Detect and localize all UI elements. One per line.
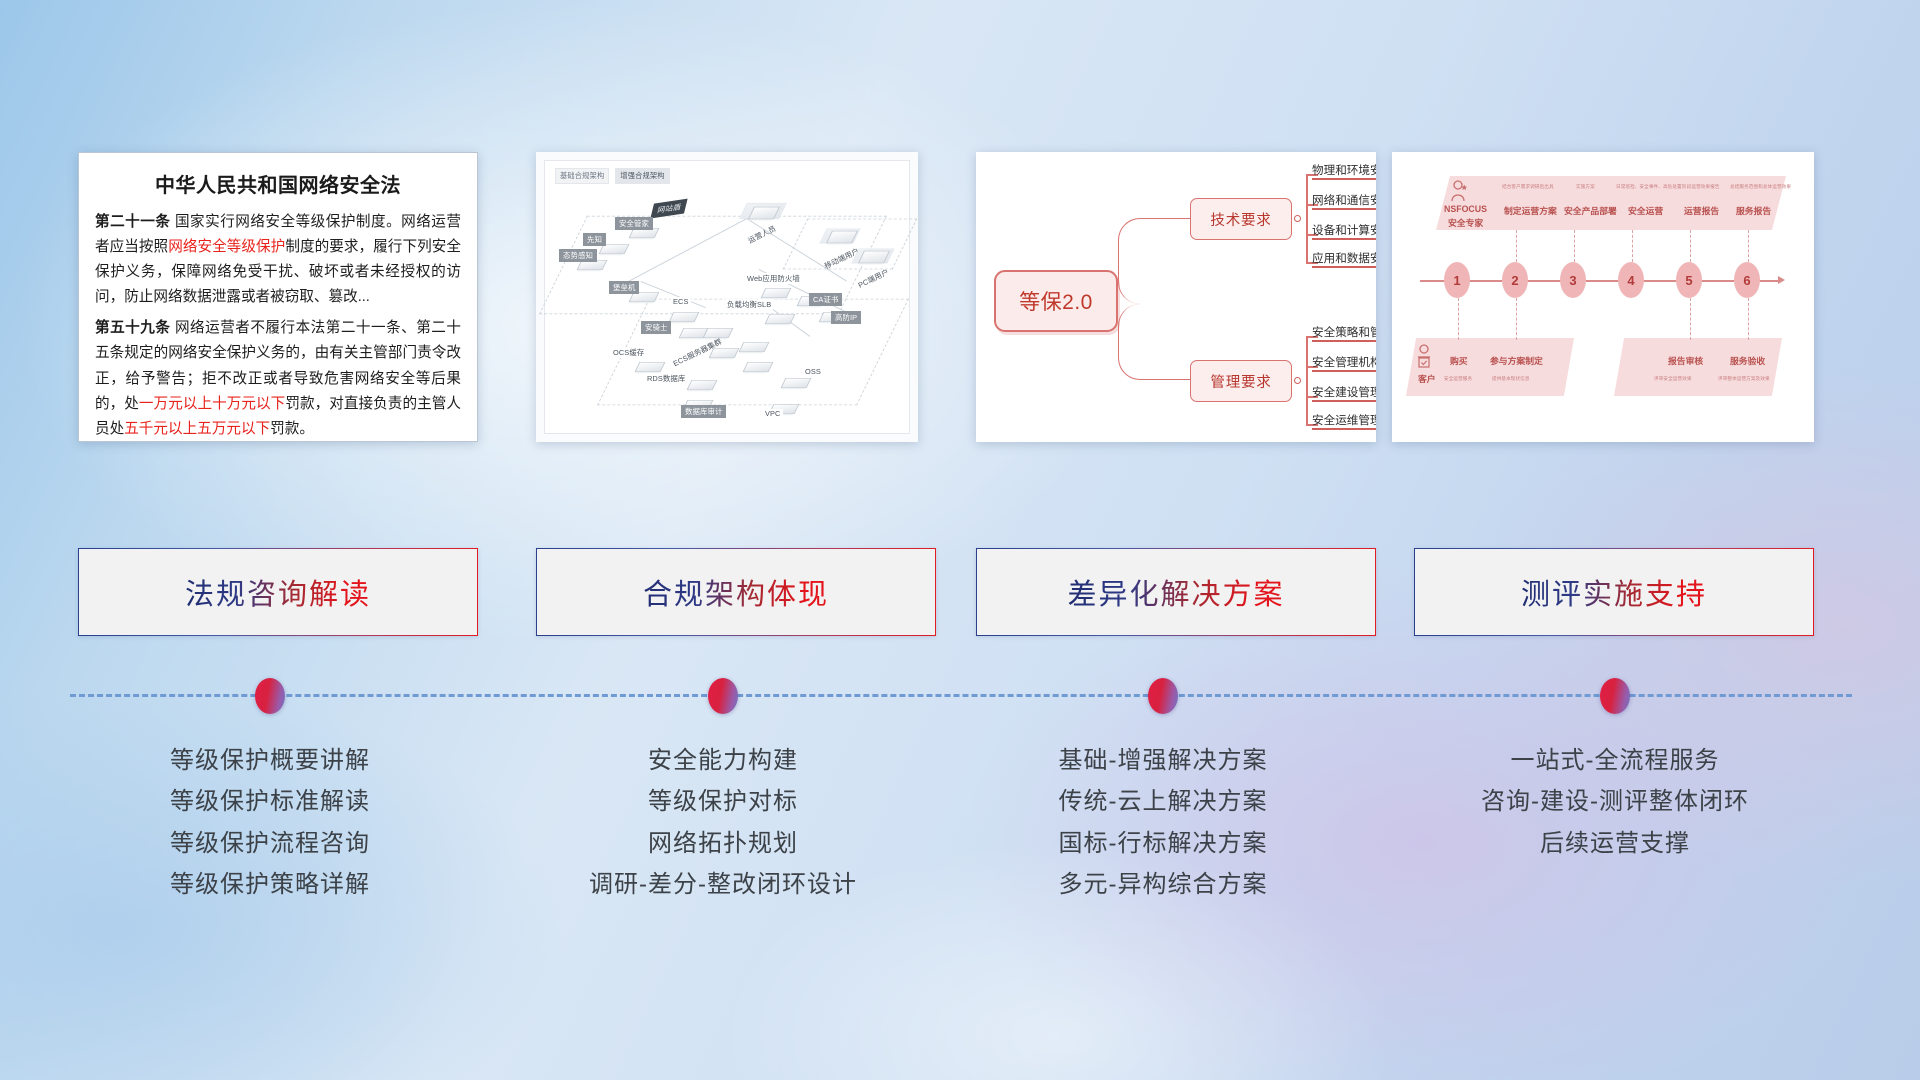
heading-label-4: 测评实施支持: [1521, 571, 1707, 613]
architecture-tab-enhanced[interactable]: 增强合规架构: [615, 168, 669, 184]
architecture-node-icon-ocs: [635, 362, 666, 372]
mindmap-canvas: 等保2.0 技术要求 物理和环境安全 网络和通信安全 设备和计算安全 应用和数据…: [976, 152, 1376, 442]
architecture-label-db-audit: 数据库审计: [681, 405, 726, 418]
nsfocus-bottom-sub-1: 安全运营服务: [1444, 376, 1472, 382]
mindmap-leaf-underline-tech-1: [1312, 178, 1376, 180]
architecture-label-xianzhi: 先知: [583, 233, 606, 246]
timeline-dot-3[interactable]: [1148, 678, 1178, 714]
law-card-body: 第二十一条 国家实行网络安全等级保护制度。网络运营者应当按照网络安全等级保护制度…: [79, 210, 477, 442]
mindmap-spine-technical: [1306, 174, 1308, 262]
nsfocus-leader-bottom-2: [1516, 298, 1517, 340]
architecture-node-icon-rds: [687, 380, 718, 390]
heading-label-1: 法规咨询解读: [185, 571, 371, 613]
mindmap-leaf-tech-2: 网络和通信安全: [1312, 192, 1376, 208]
heading-box-regulation-consulting[interactable]: 法规咨询解读: [78, 548, 478, 636]
heading-label-3: 差异化解决方案: [1067, 571, 1284, 613]
mindmap-connector-tech: [1118, 218, 1192, 304]
nsfocus-axis-line: [1420, 280, 1780, 282]
column-differentiated-solution: 基础-增强解决方案 传统-云上解决方案 国标-行标解决方案 多元-异构综合方案: [948, 740, 1378, 905]
nsfocus-step-3[interactable]: 3: [1560, 262, 1586, 298]
architecture-label-anti-ddos-ip: 高防IP: [831, 311, 861, 324]
nsfocus-expert-label: 安全专家: [1448, 216, 1483, 229]
column-1-item-2: 等级保护标准解读: [55, 781, 485, 822]
mindmap-branch-management: 管理要求: [1190, 360, 1292, 402]
nsfocus-leader-top-3: [1574, 230, 1575, 262]
column-assessment-support: 一站式-全流程服务 咨询-建设-测评整体闭环 后续运营支撑: [1400, 740, 1830, 864]
architecture-label-waf: Web应用防火墙: [745, 273, 802, 284]
architecture-tabs: 基础合规架构 增强合规架构: [555, 168, 670, 184]
architecture-label-bastion-host: 堡垒机: [609, 281, 639, 294]
nsfocus-top-main-5: 服务报告: [1736, 204, 1771, 217]
column-4-item-1: 一站式-全流程服务: [1400, 740, 1830, 781]
mindmap-leaf-underline-tech-2: [1312, 208, 1376, 210]
nsfocus-axis-arrow-icon: [1778, 276, 1785, 284]
architecture-label-oss: OSS: [803, 367, 823, 376]
column-3-item-3: 国标-行标解决方案: [948, 823, 1378, 864]
architecture-diagram: 基础合规架构 增强合规架构: [536, 152, 918, 442]
column-compliance-architecture: 安全能力构建 等级保护对标 网络拓扑规划 调研-差分-整改闭环设计: [508, 740, 938, 905]
mindmap-leaf-mgmt-2: 安全管理机构和人员: [1312, 354, 1376, 370]
nsfocus-band-bottom-right: [1614, 338, 1782, 396]
nsfocus-bottom-main-2: 参与方案制定: [1490, 354, 1543, 367]
architecture-node-icon-slb: [765, 314, 796, 324]
mindmap-expand-dot-management[interactable]: [1294, 377, 1301, 384]
architecture-node-icon-ecs-cluster-c: [739, 342, 770, 352]
law-run-1-1: 网络安全等级保护: [168, 239, 285, 255]
mindmap-leaf-underline-tech-3: [1312, 238, 1376, 240]
architecture-label-rds-db: RDS数据库: [645, 373, 687, 384]
law-paragraph-2: 第五十九条 网络运营者不履行本法第二十一条、第二十五条规定的网络安全保护义务的，…: [95, 316, 461, 441]
nsfocus-top-sub-1: 结合客户需求调研后出具: [1502, 184, 1554, 190]
nsfocus-bottom-sub-2: 提供基本现状信息: [1492, 376, 1530, 382]
law-article-number-1: 第二十一条: [95, 214, 170, 230]
column-2-item-3: 网络拓扑规划: [508, 823, 938, 864]
heading-box-compliance-architecture[interactable]: 合规架构体现: [536, 548, 936, 636]
column-3-item-2: 传统-云上解决方案: [948, 781, 1378, 822]
customer-person-icon: [1416, 344, 1436, 370]
architecture-canvas: 基础合规架构 增强合规架构: [544, 160, 910, 434]
architecture-zone-clients: [783, 219, 918, 270]
column-regulation-consulting: 等级保护概要讲解 等级保护标准解读 等级保护流程咨询 等级保护策略详解: [55, 740, 485, 905]
mindmap-leaf-tech-4: 应用和数据安全: [1312, 250, 1376, 266]
nsfocus-bottom-main-1: 购买: [1450, 354, 1468, 367]
column-1-item-1: 等级保护概要讲解: [55, 740, 485, 781]
law-paragraph-1: 第二十一条 国家实行网络安全等级保护制度。网络运营者应当按照网络安全等级保护制度…: [95, 210, 461, 310]
timeline-dashed-line: [70, 694, 1852, 697]
mindmap-leaf-underline-mgmt-1: [1312, 340, 1376, 342]
nsfocus-top-main-2: 安全产品部署: [1564, 204, 1617, 217]
nsfocus-top-main-1: 制定运营方案: [1504, 204, 1557, 217]
mindmap-leaf-tech-1: 物理和环境安全: [1312, 162, 1376, 178]
column-3-item-1: 基础-增强解决方案: [948, 740, 1378, 781]
architecture-label-anqishi: 安骑士: [641, 321, 671, 334]
mindmap-leaf-tech-3: 设备和计算安全: [1312, 222, 1376, 238]
architecture-node-icon-waf: [761, 288, 792, 298]
timeline-dot-1[interactable]: [255, 678, 285, 714]
law-run-2-3: 五千元以上五万元以下: [124, 421, 270, 437]
nsfocus-leader-top-2: [1516, 230, 1517, 262]
nsfocus-leader-bottom-1: [1458, 298, 1459, 340]
timeline-dot-4[interactable]: [1600, 678, 1630, 714]
timeline-dot-2[interactable]: [708, 678, 738, 714]
law-card-title: 中华人民共和国网络安全法: [79, 169, 477, 198]
nsfocus-step-6[interactable]: 6: [1734, 262, 1760, 298]
architecture-label-slb: 负载均衡SLB: [725, 299, 773, 310]
nsfocus-step-4[interactable]: 4: [1618, 262, 1644, 298]
column-2-item-4: 调研-差分-整改闭环设计: [508, 864, 938, 905]
nsfocus-top-sub-4: 阶段运营效果报告: [1682, 184, 1720, 190]
mindmap-leaf-underline-tech-4: [1312, 266, 1376, 268]
nsfocus-top-main-3: 安全运营: [1628, 204, 1663, 217]
nsfocus-canvas: NSFOCUS 安全专家 结合客户需求调研后出具 制定运营方案 实施方案 安全产…: [1392, 152, 1814, 442]
nsfocus-bottom-sub-4: 评审整体运营方案及效果: [1718, 376, 1770, 382]
architecture-label-ca-cert: CA证书: [809, 293, 842, 306]
architecture-node-icon-oss: [781, 378, 812, 388]
architecture-card: 基础合规架构 增强合规架构: [536, 152, 918, 442]
security-expert-person-icon: [1450, 180, 1470, 202]
mindmap-leaf-mgmt-1: 安全策略和管理制度: [1312, 324, 1376, 340]
mindmap-leaf-underline-mgmt-3: [1312, 400, 1376, 402]
column-3-item-4: 多元-异构综合方案: [948, 864, 1378, 905]
mindmap-card: 等保2.0 技术要求 物理和环境安全 网络和通信安全 设备和计算安全 应用和数据…: [976, 152, 1376, 442]
architecture-label-security-guardian: 安全管家: [615, 217, 653, 230]
nsfocus-leader-top-5: [1690, 230, 1691, 262]
nsfocus-leader-bottom-3: [1690, 298, 1691, 340]
nsfocus-top-sub-3: 日常巡检、安全事件、高危处置: [1616, 184, 1682, 190]
column-2-item-1: 安全能力构建: [508, 740, 938, 781]
law-run-2-1: 一万元以上十万元以下: [139, 396, 285, 412]
column-1-item-3: 等级保护流程咨询: [55, 823, 485, 864]
nsfocus-top-sub-2: 实施方案: [1576, 184, 1595, 190]
nsfocus-bottom-main-4: 服务验收: [1730, 354, 1765, 367]
nsfocus-top-sub-5: 总结服务范围和总体运营效果: [1730, 184, 1791, 190]
mindmap-leaf-underline-mgmt-4: [1312, 428, 1376, 430]
mindmap-branch-technical: 技术要求: [1190, 198, 1292, 240]
architecture-node-icon-ecs-cluster-d: [743, 362, 774, 372]
nsfocus-bottom-sub-3: 评审安全运营效果: [1654, 376, 1692, 382]
nsfocus-step-5[interactable]: 5: [1676, 262, 1702, 298]
mindmap-leaf-mgmt-4: 安全运维管理: [1312, 412, 1376, 428]
nsfocus-step-2[interactable]: 2: [1502, 262, 1528, 298]
architecture-label-ecs: ECS: [671, 297, 691, 306]
heading-box-assessment-support[interactable]: 测评实施支持: [1414, 548, 1814, 636]
law-run-2-4: 罚款。: [270, 421, 314, 437]
mindmap-leaf-mgmt-3: 安全建设管理: [1312, 384, 1376, 400]
architecture-node-icon-ecs: [669, 312, 700, 322]
nsfocus-bottom-main-3: 报告审核: [1668, 354, 1703, 367]
nsfocus-top-main-4: 运营报告: [1684, 204, 1719, 217]
law-card: 中华人民共和国网络安全法 第二十一条 国家实行网络安全等级保护制度。网络运营者应…: [78, 152, 478, 442]
column-2-item-2: 等级保护对标: [508, 781, 938, 822]
architecture-label-ocs-cache: OCS缓存: [611, 347, 646, 358]
architecture-label-situational-awareness: 态势感知: [559, 249, 597, 262]
nsfocus-leader-top-6: [1748, 230, 1749, 262]
column-4-item-3: 后续运营支撑: [1400, 823, 1830, 864]
mindmap-root-node: 等保2.0: [994, 270, 1118, 332]
architecture-label-vpc: VPC: [763, 409, 783, 418]
law-article-number-2: 第五十九条: [95, 320, 170, 336]
nsfocus-leader-bottom-4: [1748, 298, 1749, 340]
heading-label-2: 合规架构体现: [643, 571, 829, 613]
mindmap-leaf-underline-mgmt-2: [1312, 370, 1376, 372]
nsfocus-brand-label: NSFOCUS: [1444, 204, 1487, 214]
column-1-item-4: 等级保护策略详解: [55, 864, 485, 905]
nsfocus-customer-label: 客户: [1418, 372, 1436, 385]
mindmap-connector-mgmt: [1118, 304, 1192, 380]
column-4-item-2: 咨询-建设-测评整体闭环: [1400, 781, 1830, 822]
architecture-tab-basic[interactable]: 基础合规架构: [555, 168, 609, 184]
mindmap-spine-management: [1306, 336, 1308, 424]
mindmap-expand-dot-technical[interactable]: [1294, 215, 1301, 222]
nsfocus-leader-top-4: [1632, 230, 1633, 262]
nsfocus-timeline-card: NSFOCUS 安全专家 结合客户需求调研后出具 制定运营方案 实施方案 安全产…: [1392, 152, 1814, 442]
nsfocus-step-1[interactable]: 1: [1444, 262, 1470, 298]
heading-box-differentiated-solution[interactable]: 差异化解决方案: [976, 548, 1376, 636]
